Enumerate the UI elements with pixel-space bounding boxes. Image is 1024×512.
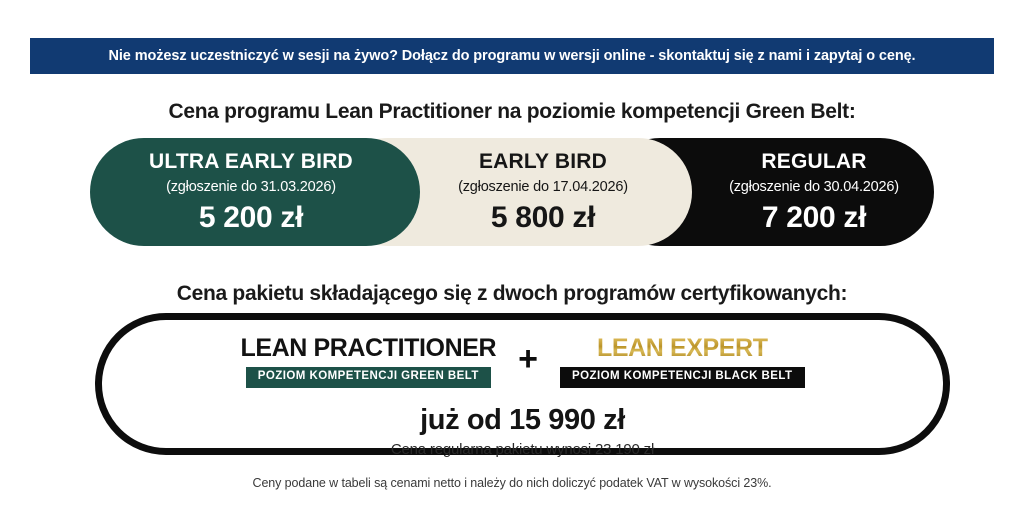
- bundle-offer-box: LEAN PRACTITIONER POZIOM KOMPETENCJI GRE…: [95, 313, 950, 455]
- pricing-tier-ultra-early-bird-content: ULTRA EARLY BIRD (zgłoszenie do 31.03.20…: [149, 151, 353, 234]
- pricing-tier-early-bird-price: 5 800 zł: [491, 201, 595, 235]
- bundle-program-lean-expert: LEAN EXPERT POZIOM KOMPETENCJI BLACK BEL…: [560, 336, 804, 388]
- pricing-tier-ultra-early-bird: ULTRA EARLY BIRD (zgłoszenie do 31.03.20…: [90, 138, 420, 246]
- bundle-section-heading: Cena pakietu składającego się z dwoch pr…: [0, 282, 1024, 306]
- pricing-tier-regular-content: REGULAR (zgłoszenie do 30.04.2026) 7 200…: [729, 151, 899, 234]
- pricing-tier-early-bird-name: EARLY BIRD: [479, 151, 607, 173]
- pricing-tier-regular-deadline: (zgłoszenie do 30.04.2026): [729, 179, 899, 195]
- tiers-section-heading: Cena programu Lean Practitioner na pozio…: [0, 100, 1024, 124]
- bundle-programs-row: LEAN PRACTITIONER POZIOM KOMPETENCJI GRE…: [102, 336, 943, 388]
- bundle-program-lean-practitioner-badge: POZIOM KOMPETENCJI GREEN BELT: [246, 367, 491, 388]
- bundle-program-lean-expert-title: LEAN EXPERT: [597, 336, 768, 361]
- pricing-tier-ultra-early-bird-price: 5 200 zł: [199, 201, 303, 235]
- pricing-tier-regular-name: REGULAR: [761, 151, 866, 173]
- bundle-program-lean-practitioner-title: LEAN PRACTITIONER: [240, 336, 496, 361]
- vat-footnote: Ceny podane w tabeli są cenami netto i n…: [0, 476, 1024, 490]
- bundle-price: już od 15 990 zł: [102, 404, 943, 437]
- pricing-tier-regular-price: 7 200 zł: [762, 201, 866, 235]
- notice-banner-text: Nie możesz uczestniczyć w sesji na żywo?…: [109, 48, 916, 64]
- bundle-program-lean-expert-badge: POZIOM KOMPETENCJI BLACK BELT: [560, 367, 804, 388]
- pricing-tier-ultra-early-bird-deadline: (zgłoszenie do 31.03.2026): [166, 179, 336, 195]
- bundle-program-lean-practitioner: LEAN PRACTITIONER POZIOM KOMPETENCJI GRE…: [240, 336, 496, 388]
- pricing-tier-ultra-early-bird-name: ULTRA EARLY BIRD: [149, 151, 353, 173]
- pricing-tiers-row: REGULAR (zgłoszenie do 30.04.2026) 7 200…: [90, 138, 934, 246]
- plus-icon: +: [518, 342, 538, 376]
- pricing-tier-early-bird-content: EARLY BIRD (zgłoszenie do 17.04.2026) 5 …: [458, 151, 628, 234]
- online-session-notice-banner: Nie możesz uczestniczyć w sesji na żywo?…: [30, 38, 994, 74]
- pricing-tier-early-bird-deadline: (zgłoszenie do 17.04.2026): [458, 179, 628, 195]
- bundle-regular-price-note: Cena regularna pakietu wynosi 23 190 zł: [102, 441, 943, 458]
- pricing-graphic: { "notice": { "text": "Nie możesz uczest…: [0, 0, 1024, 512]
